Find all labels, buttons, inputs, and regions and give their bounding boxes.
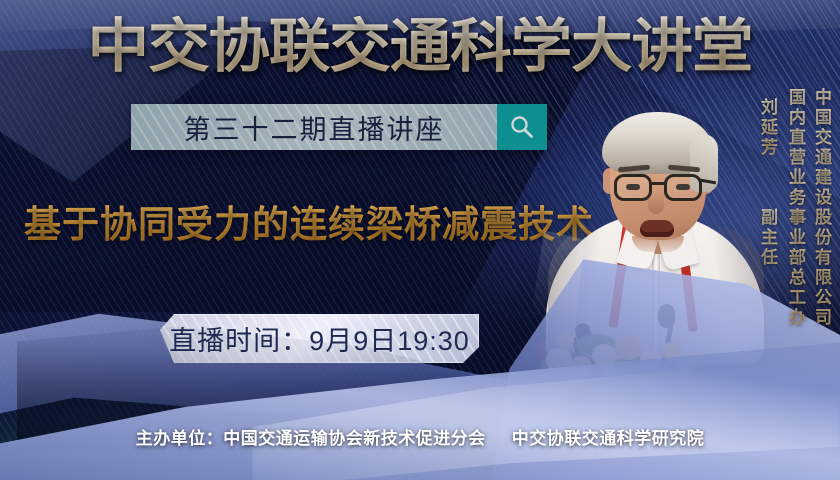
flower-yellow-1 <box>662 342 682 360</box>
speaker-glasses-left-lens <box>614 174 652 201</box>
subtitle-bar-body: 第三十二期直播讲座 <box>131 104 497 150</box>
flower-yellow-2 <box>602 362 618 377</box>
subtitle-text: 第三十二期直播讲座 <box>184 108 445 147</box>
speaker-nose <box>648 192 664 214</box>
speaker-department: 国内直营业务事业部总工办 <box>783 88 808 328</box>
speaker-company: 中国交通建设股份有限公司 <box>809 88 834 328</box>
lecture-topic: 基于协同受力的连续梁桥减震技术 <box>24 203 594 247</box>
microphone-head-right <box>658 304 675 328</box>
flower-cream-4 <box>640 350 662 370</box>
flower-cream-5 <box>676 358 694 374</box>
footer-organizer-1: 中国交通运输协会新技术促进分会 <box>223 429 486 448</box>
footer-organizer-2: 中交协联交通科学研究院 <box>512 429 705 448</box>
footer-label: 主办单位： <box>136 429 224 448</box>
footer-organizers: 主办单位：中国交通运输协会新技术促进分会中交协联交通科学研究院 <box>0 424 840 449</box>
speaker-chin <box>632 236 684 252</box>
speaker-glasses-right-lens <box>664 174 702 201</box>
flower-orange-1 <box>616 336 642 360</box>
flower-cream-1 <box>546 348 572 372</box>
subtitle-bar: 第三十二期直播讲座 <box>131 104 547 150</box>
broadcast-time-text: 直播时间：9月9日19:30 <box>169 319 470 358</box>
poster-title: 中交协联交通科学大讲堂 <box>0 16 840 78</box>
podium-flowers <box>536 326 706 392</box>
speaker-glasses-bridge <box>651 182 665 185</box>
search-icon <box>509 114 535 140</box>
flower-cream-2 <box>570 356 592 376</box>
speaker-role: 副主任 <box>755 208 780 268</box>
speaker-mouth <box>640 220 674 237</box>
flower-yellow-3 <box>556 332 574 348</box>
broadcast-time-pill: 直播时间：9月9日19:30 <box>160 314 479 363</box>
speaker-name: 刘延芳 <box>755 98 780 158</box>
live-lecture-poster: 中交协联交通科学大讲堂 中交协联交通科学大讲堂 第三十二期直播讲座 基于协同受力… <box>0 0 840 480</box>
